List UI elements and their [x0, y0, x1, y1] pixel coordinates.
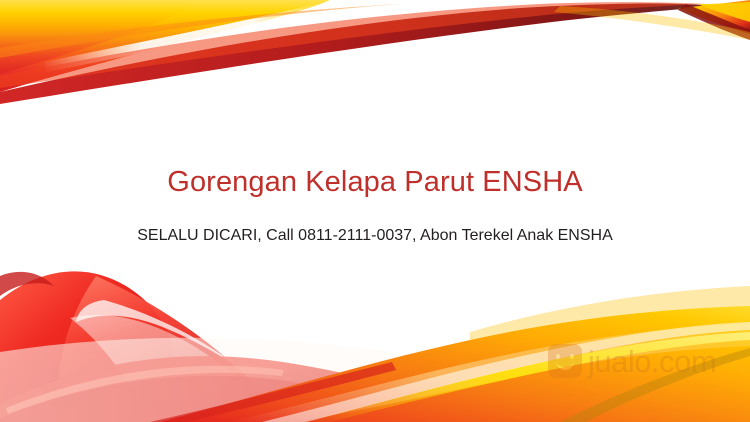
promotional-banner: Gorengan Kelapa Parut ENSHA SELALU DICAR…	[0, 0, 750, 422]
abstract-wave-graphic	[0, 0, 750, 422]
